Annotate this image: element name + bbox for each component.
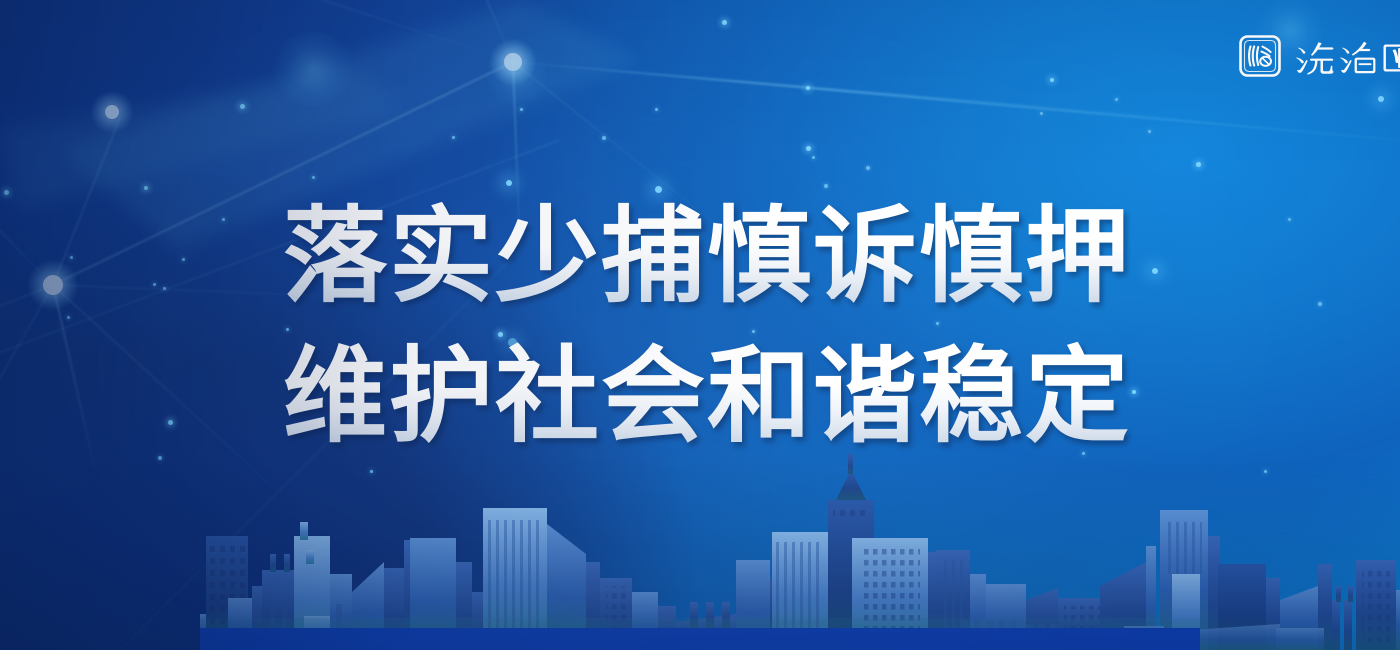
particle-dot: [806, 146, 811, 151]
particle-dot: [812, 156, 815, 159]
poster-canvas: 落实少捕慎诉慎押 维护社会和谐稳定: [0, 0, 1400, 650]
particle-dot: [655, 108, 658, 111]
particle-dot: [240, 104, 245, 109]
glow-blob: [484, 44, 550, 106]
particle-dot: [1040, 112, 1043, 115]
particle-dot: [806, 86, 810, 90]
glow-blob: [268, 32, 358, 106]
particle-dot: [1378, 96, 1384, 102]
seal-square-icon: [1238, 34, 1282, 78]
particle-dot: [312, 176, 315, 179]
headline-line-1: 落实少捕慎诉慎押: [283, 186, 1400, 326]
particle-dot: [722, 20, 727, 25]
headline-block: 落实少捕慎诉慎押 维护社会和谐稳定: [0, 186, 1400, 466]
particle-dot: [602, 136, 606, 140]
city-skyline-silhouette: [0, 450, 1400, 650]
ground-strip: [200, 628, 1200, 650]
headline-line-2: 维护社会和谐稳定: [283, 326, 1400, 466]
particle-dot: [1148, 130, 1151, 133]
particle-dot: [520, 108, 523, 111]
brand-logo[interactable]: [1238, 33, 1400, 79]
particle-dot: [452, 136, 455, 139]
brand-name-fazhiwang: [1294, 36, 1400, 76]
particle-dot: [1050, 78, 1054, 82]
particle-dot: [1196, 162, 1201, 167]
particle-dot: [866, 166, 870, 170]
particle-dot: [1115, 98, 1118, 101]
